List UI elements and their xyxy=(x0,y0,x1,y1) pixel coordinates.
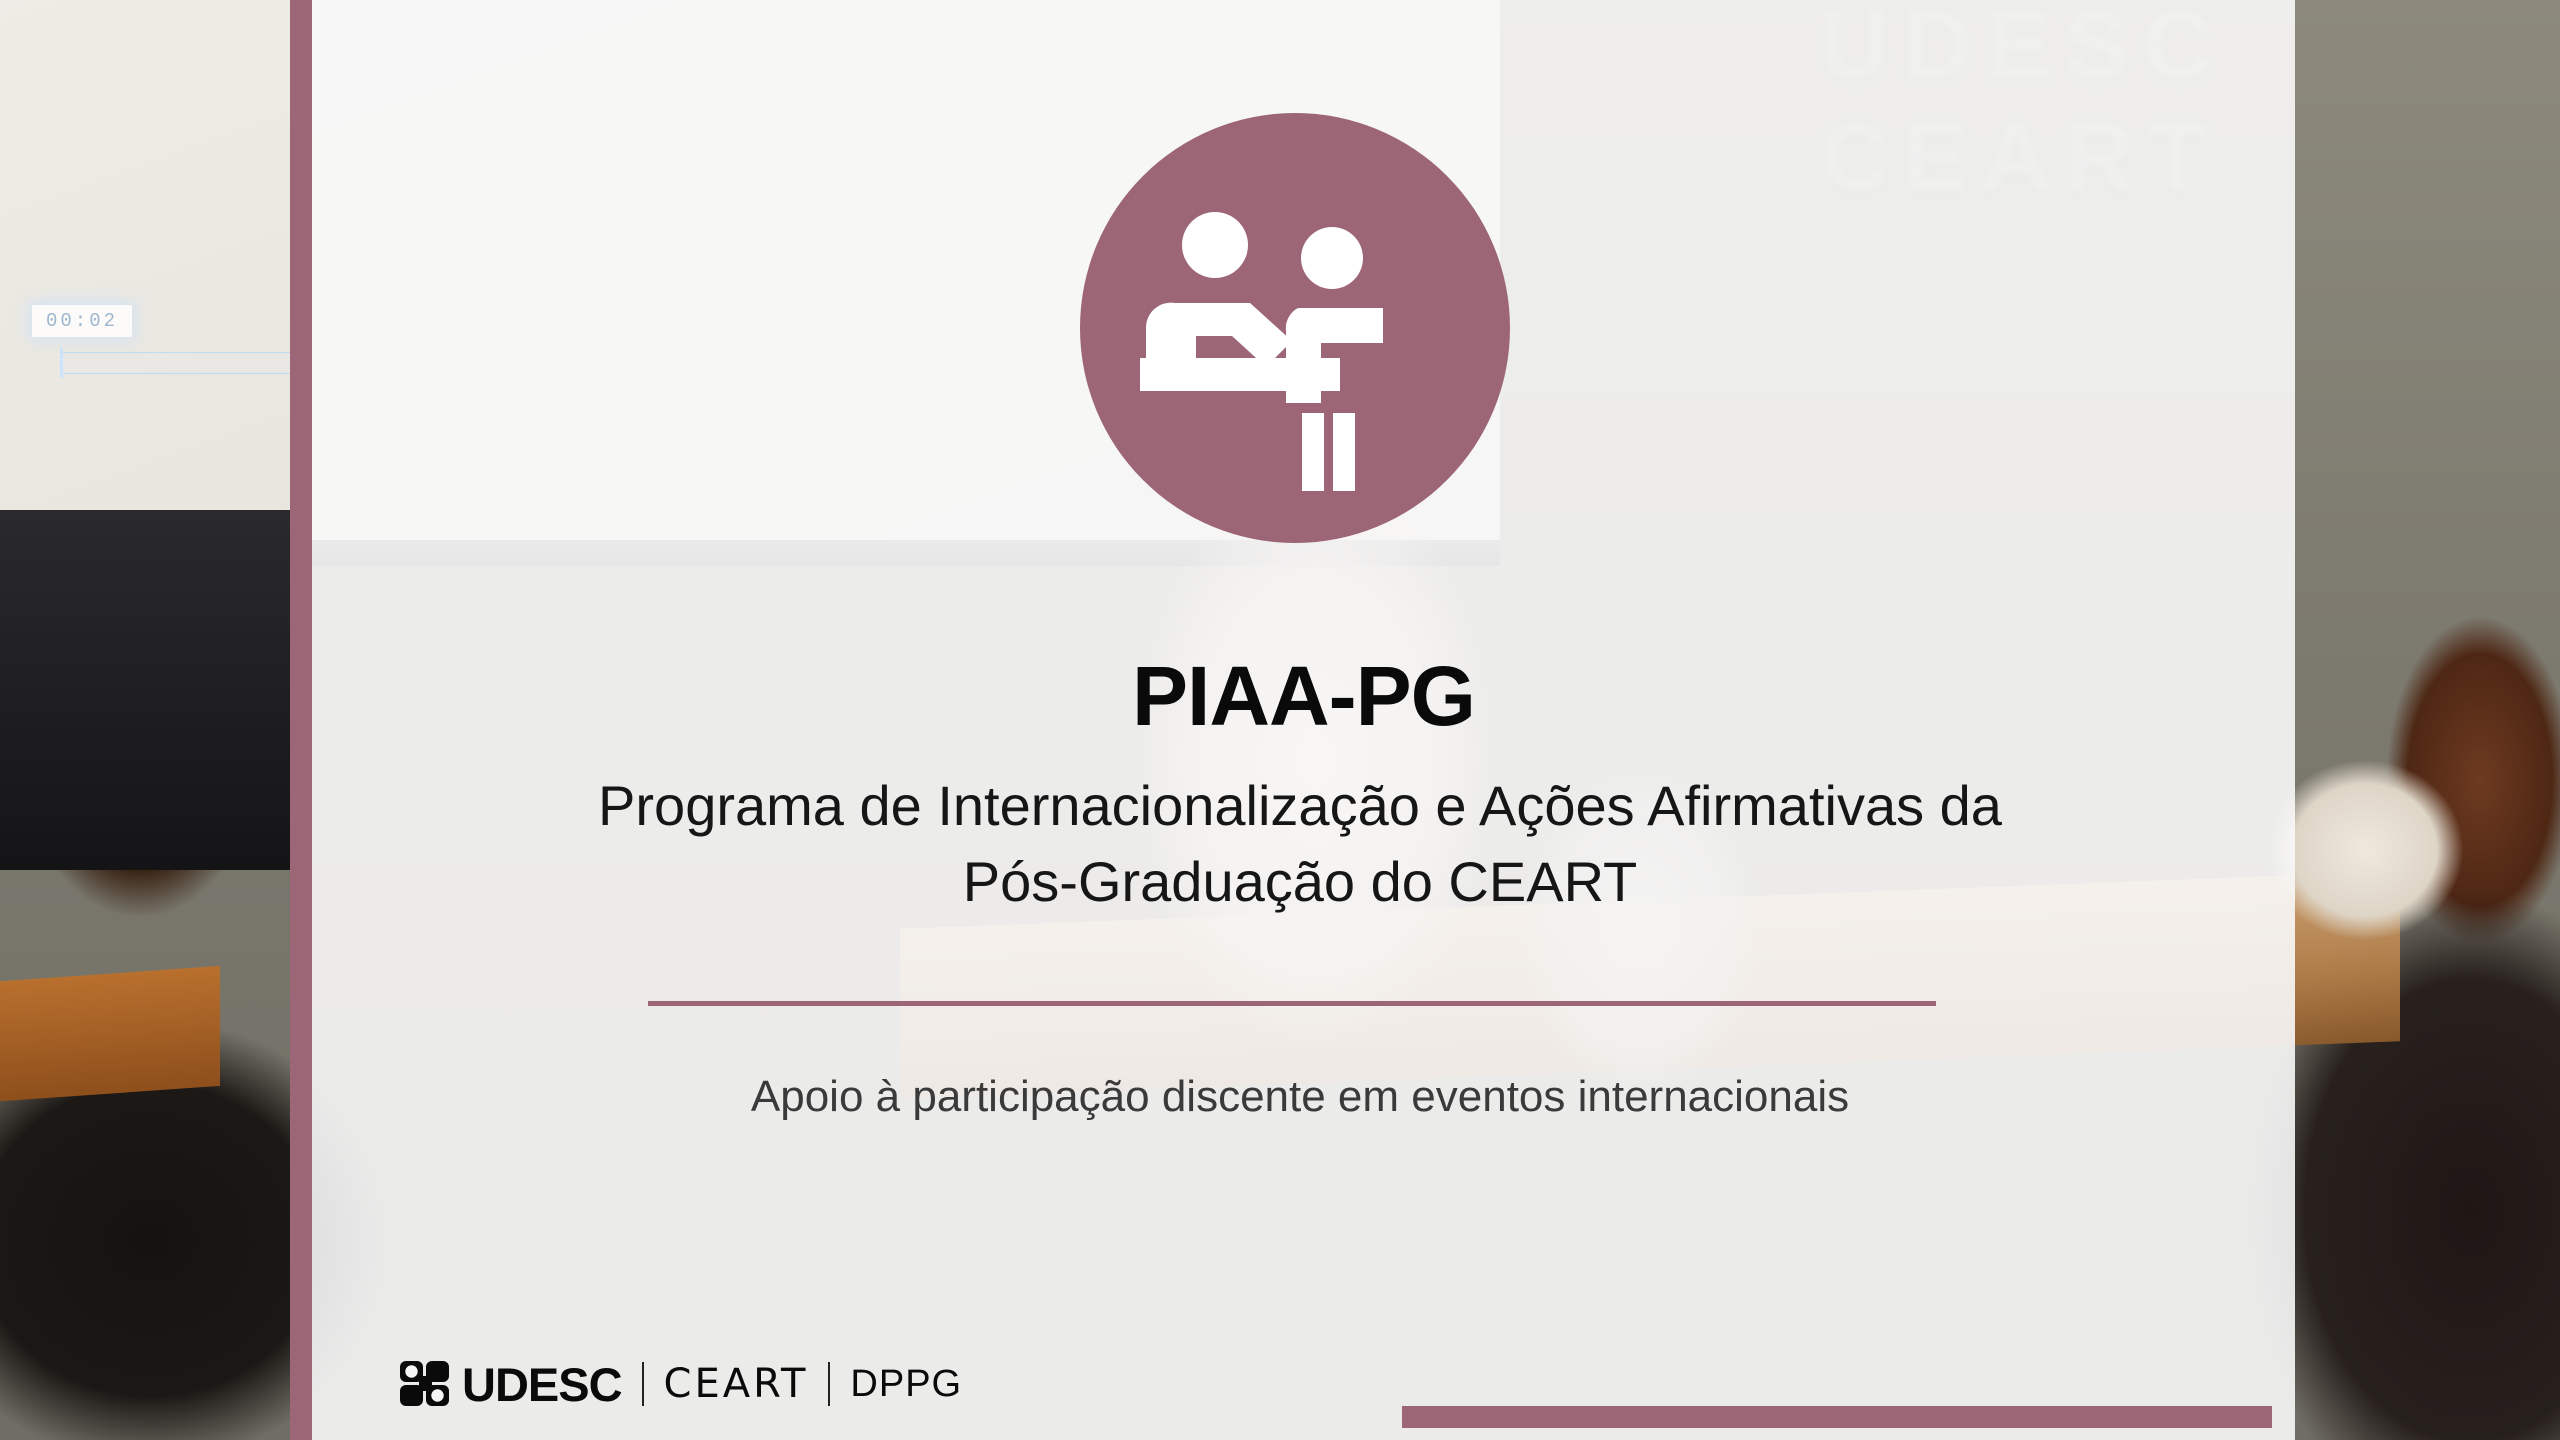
page-title: PIAA-PG xyxy=(312,648,2295,745)
logo-udesc-text: UDESC xyxy=(462,1357,622,1412)
logo-dppg-text: DPPG xyxy=(850,1363,962,1406)
logo-ceart-text: CEART xyxy=(664,1361,809,1407)
wall-monitor xyxy=(0,510,300,870)
accent-bar-bottom xyxy=(1402,1406,2272,1428)
lecture-teaching-icon xyxy=(1080,113,1510,543)
video-scrubber-track[interactable] xyxy=(60,352,300,374)
presentation-slide: UDESC CEART 00:02 PIAA-PG Programa xyxy=(0,0,2560,1440)
logo-separator-2 xyxy=(828,1362,830,1406)
program-subtitle: Programa de Internacionalização e Ações … xyxy=(400,768,2200,920)
institutional-logo-lockup: UDESC CEART DPPG xyxy=(400,1356,962,1412)
section-divider xyxy=(648,1001,1936,1006)
accent-bar-left xyxy=(290,0,312,1440)
video-timecode-tooltip: 00:02 xyxy=(32,305,132,337)
desk-left xyxy=(0,966,220,1104)
subtitle-line-2: Pós-Graduação do CEART xyxy=(400,844,2200,920)
logo-separator-1 xyxy=(642,1362,644,1406)
program-tagline: Apoio à participação discente em eventos… xyxy=(400,1072,2200,1122)
video-scrubber-handle[interactable] xyxy=(60,348,63,378)
udesc-mark xyxy=(400,1361,452,1407)
subtitle-line-1: Programa de Internacionalização e Ações … xyxy=(400,768,2200,844)
